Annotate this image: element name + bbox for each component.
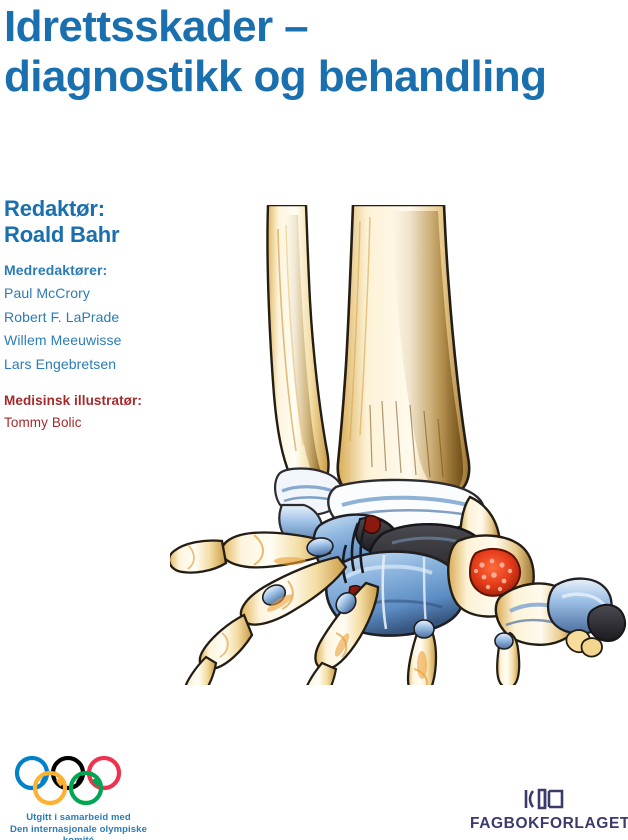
title-line-2: diagnostikk og behandling — [4, 52, 628, 102]
title-line-1: Idrettsskader – — [4, 2, 628, 52]
olympic-rings-icon — [12, 755, 124, 807]
olympic-logo-block: Utgitt i samarbeid med Den internasjonal… — [6, 755, 151, 840]
olympic-caption-line-2: Den internasjonale olympiske komité — [6, 824, 151, 840]
book-cover: Idrettsskader – diagnostikk og behandlin… — [0, 0, 628, 840]
publisher-name: FAGBOKFORLAGET — [470, 815, 620, 833]
ankle-anatomy-illustration — [170, 205, 628, 685]
olympic-caption-line-1: Utgitt i samarbeid med — [6, 812, 151, 824]
publisher-logo-block: FAGBOKFORLAGET — [470, 786, 620, 833]
open-book-icon — [470, 786, 620, 812]
tibia-fibula-group — [267, 205, 469, 504]
olympic-caption: Utgitt i samarbeid med Den internasjonal… — [6, 812, 151, 840]
page-title: Idrettsskader – diagnostikk og behandlin… — [4, 2, 628, 102]
